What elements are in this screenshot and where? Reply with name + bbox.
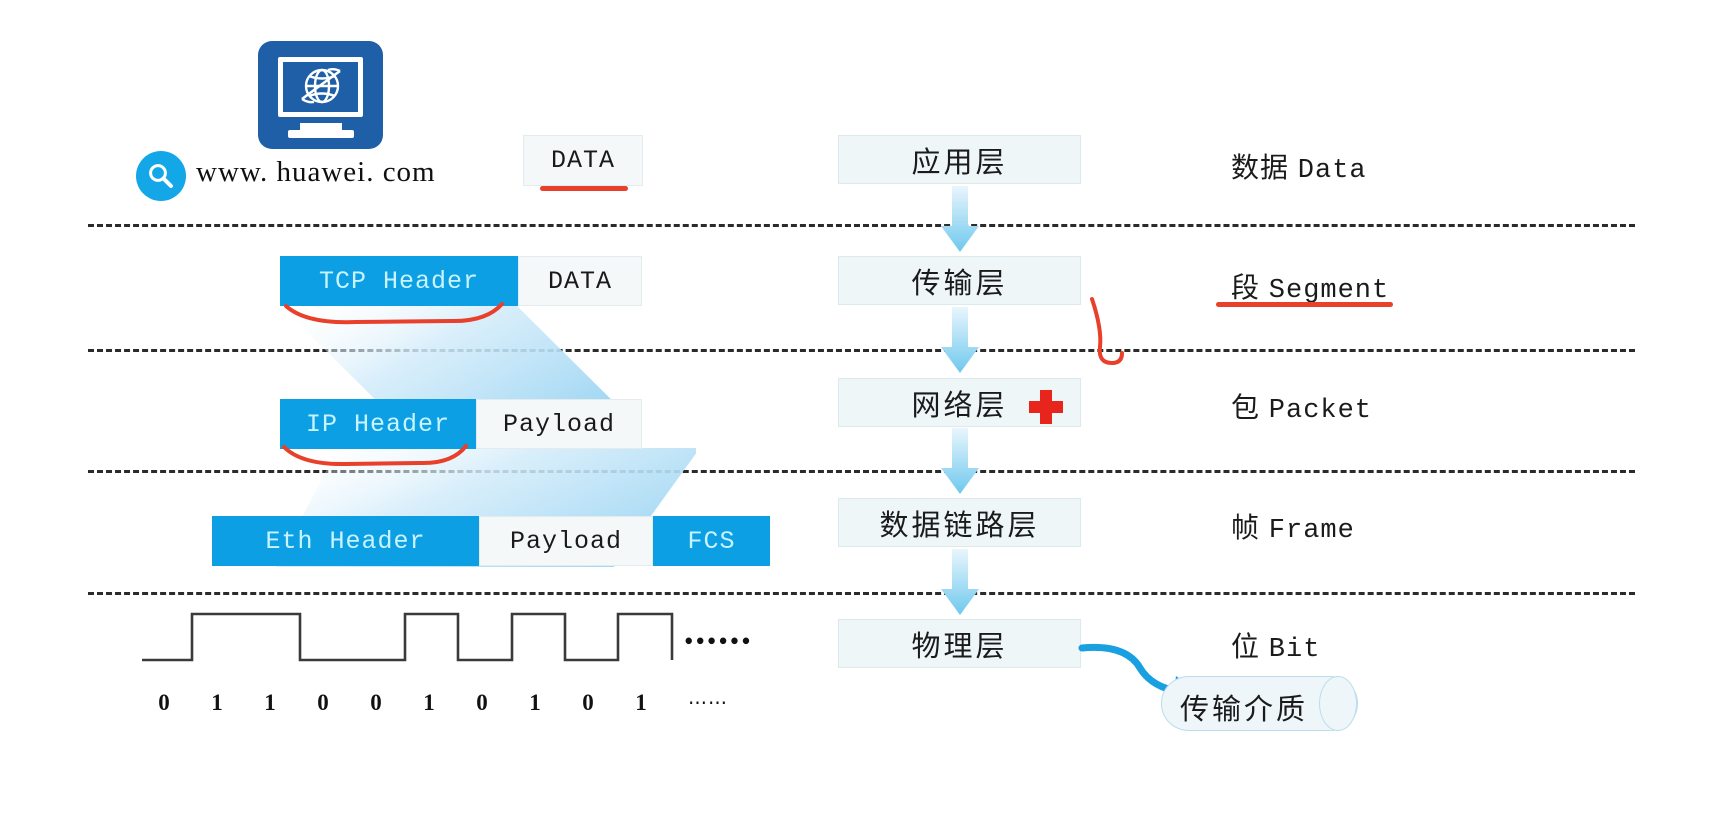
pdu-label-en: Frame [1269,516,1355,546]
pdu-label-segment: 段 Segment [1231,266,1389,306]
divider-datalink-physical [88,592,1635,595]
red-underline-segment [1216,302,1393,307]
computer-globe-icon [258,41,383,149]
monitor-stand-shape [300,123,342,130]
bit-sequence-ellipsis: ⋯⋯ [688,692,728,715]
bit-value: 0 [151,690,177,716]
pdu-cell-tcp-header: TCP Header [280,256,518,306]
bit-value: 0 [575,690,601,716]
pdu-label-cn: 段 [1231,272,1260,303]
pdu-cell-data-transport: DATA [518,256,642,306]
arrow-application-to-transport [941,186,979,254]
arrow-network-to-datalink [941,428,979,496]
waveform-ellipsis: •••••• [684,626,753,657]
layer-box-datalink: 数据链路层 [838,498,1081,547]
pdu-cell-payload-network: Payload [476,399,642,449]
layer-box-transport: 传输层 [838,256,1081,305]
red-curved-arrow [1080,295,1140,375]
transmission-medium-label: 传输介质 [1180,686,1308,728]
pdu-cell-data-application: DATA [523,135,643,186]
bit-value: 1 [522,690,548,716]
pdu-label-cn: 数据 [1231,152,1289,183]
search-icon [136,151,186,201]
pdu-label-frame: 帧 Frame [1231,506,1355,546]
bit-value: 0 [363,690,389,716]
divider-application-transport [88,224,1635,227]
layer-box-physical: 物理层 [838,619,1081,668]
bit-value: 0 [469,690,495,716]
bit-value: 1 [204,690,230,716]
pdu-cell-eth-header: Eth Header [212,516,479,566]
transmission-medium-cylinder: 传输介质 [1161,676,1358,731]
bit-value: 1 [416,690,442,716]
layer-box-application: 应用层 [838,135,1081,184]
red-cross-icon [1029,390,1063,424]
bit-value: 1 [628,690,654,716]
pdu-cell-ip-header: IP Header [280,399,476,449]
arrow-transport-to-network [941,307,979,375]
pdu-label-en: Data [1298,156,1367,186]
pdu-label-cn: 包 [1231,392,1260,423]
pdu-cell-fcs: FCS [653,516,770,566]
encapsulation-diagram: www. huawei. com DATA TCP Header DATA [0,0,1723,826]
bit-value: 0 [310,690,336,716]
bit-value: 1 [257,690,283,716]
site-url-label: www. huawei. com [196,156,436,189]
pdu-cell-payload-datalink: Payload [479,516,653,566]
red-underline-ip-header [280,443,480,471]
pdu-label-en: Packet [1269,396,1372,426]
monitor-base-shape [288,130,354,138]
red-underline-tcp-header [280,300,520,328]
pdu-label-data: 数据 Data [1231,146,1367,186]
cylinder-cap-shape [1319,676,1357,731]
pdu-label-packet: 包 Packet [1231,386,1372,426]
globe-icon [288,63,352,109]
arrow-datalink-to-physical [941,549,979,617]
bit-waveform [140,608,685,668]
red-underline-data [540,186,628,191]
pdu-label-cn: 位 [1231,631,1260,662]
pdu-label-en: Bit [1269,635,1321,665]
pdu-label-bit: 位 Bit [1231,625,1320,665]
pdu-label-cn: 帧 [1231,512,1260,543]
